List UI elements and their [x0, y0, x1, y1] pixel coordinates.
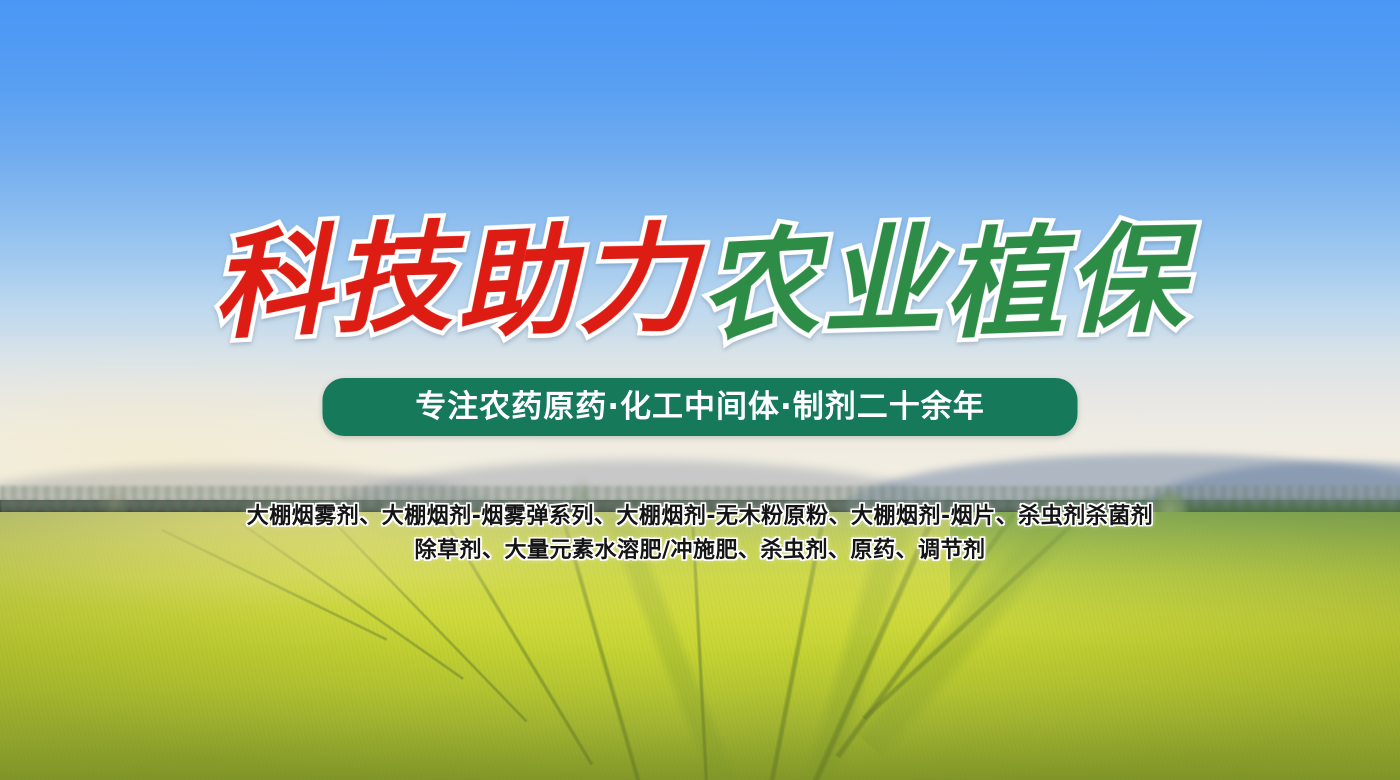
headline-char: 业 — [820, 213, 945, 348]
banner-headline: 科技助力农业植保 — [0, 216, 1400, 348]
headline-char: 技 — [332, 211, 457, 346]
headline-char: 助 — [453, 214, 581, 351]
subtitle-pill: 专注农药原药·化工中间体·制剂二十余年 — [323, 378, 1078, 436]
promotional-banner: 科技助力农业植保 专注农药原药·化工中间体·制剂二十余年 大棚烟雾剂、大棚烟剂-… — [0, 0, 1400, 780]
headline-char: 科 — [209, 215, 338, 353]
headline-char: 植 — [942, 216, 1069, 352]
product-line-2: 除草剂、大量元素水溶肥/冲施肥、杀虫剂、原药、调节剂 — [0, 534, 1400, 568]
product-list: 大棚烟雾剂、大棚烟剂-烟雾弹系列、大棚烟剂-无木粉原粉、大棚烟剂-烟片、杀虫剂杀… — [0, 500, 1400, 568]
headline-char: 力 — [577, 213, 701, 347]
headline-char: 保 — [1065, 213, 1189, 347]
headline-char: 农 — [697, 216, 826, 354]
product-line-1: 大棚烟雾剂、大棚烟剂-烟雾弹系列、大棚烟剂-无木粉原粉、大棚烟剂-烟片、杀虫剂杀… — [0, 500, 1400, 534]
subtitle-text: 专注农药原药·化工中间体·制剂二十余年 — [415, 392, 985, 423]
